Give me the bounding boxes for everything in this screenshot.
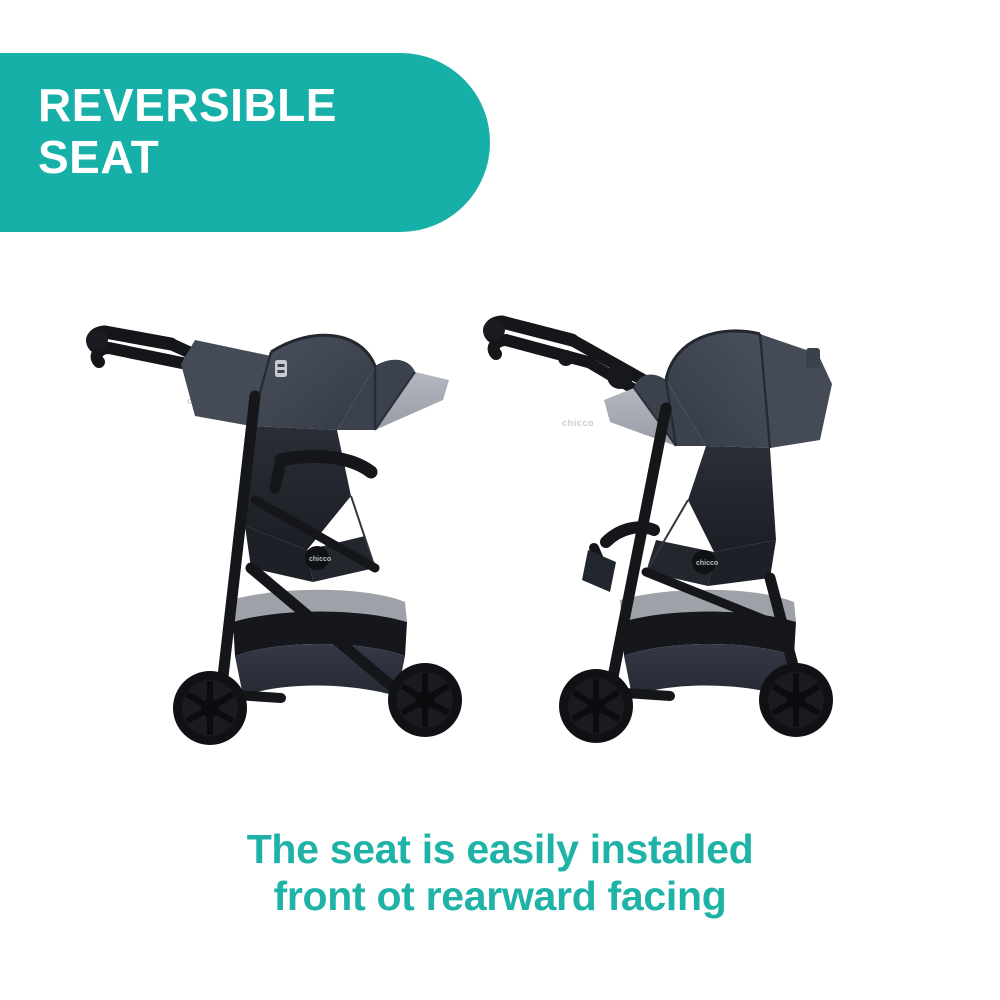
canopy-brand-tag bbox=[275, 360, 287, 377]
rear-wheel bbox=[388, 663, 462, 737]
product-image-stroller-rearward-facing: chicco chicco bbox=[470, 300, 870, 760]
canopy bbox=[181, 335, 449, 430]
feature-graphic-canvas: REVERSIBLE SEAT bbox=[0, 0, 1000, 1000]
front-wheel bbox=[559, 669, 633, 743]
feature-badge: REVERSIBLE SEAT bbox=[0, 53, 490, 232]
seat-brand-mark: chicco bbox=[696, 560, 718, 567]
front-wheel bbox=[173, 671, 247, 745]
canopy bbox=[604, 331, 832, 448]
feature-caption: The seat is easily installed front ot re… bbox=[0, 826, 1000, 920]
caption-line-1: The seat is easily installed bbox=[0, 826, 1000, 873]
canopy-brand-tag bbox=[806, 348, 820, 368]
frame-brand-text: chicco bbox=[562, 418, 594, 428]
rear-wheel bbox=[759, 663, 833, 737]
seat: chicco bbox=[646, 446, 776, 586]
seat-brand-mark: chicco bbox=[309, 556, 331, 563]
caption-line-2: front ot rearward facing bbox=[0, 873, 1000, 920]
badge-title-line-1: REVERSIBLE bbox=[38, 79, 490, 131]
product-image-stroller-forward-facing: chicco bbox=[75, 300, 465, 760]
badge-title-line-2: SEAT bbox=[38, 131, 490, 183]
